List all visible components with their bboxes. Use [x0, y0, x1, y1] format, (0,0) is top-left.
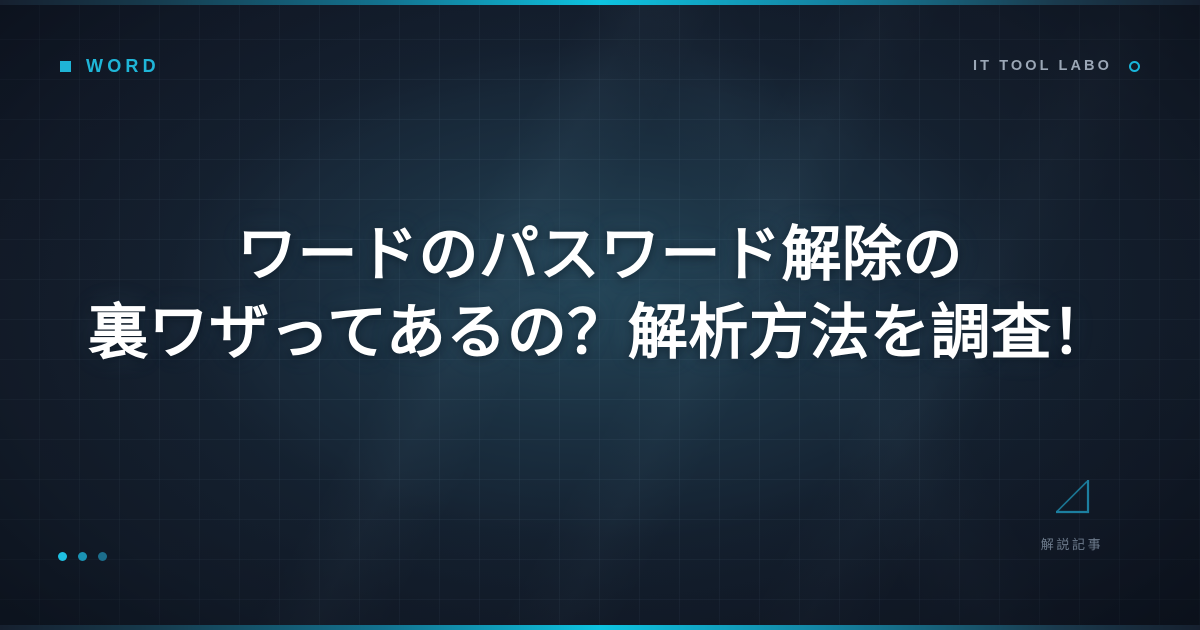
article-type-label: 解説記事: [1002, 534, 1142, 553]
brand-category: WORD: [60, 56, 160, 77]
dot-indicator-2: [78, 552, 87, 561]
bottom-accent-bar: [0, 625, 1200, 630]
right-triangle-chart-icon: [1052, 476, 1092, 516]
title-line-1: ワードのパスワード解除の: [0, 216, 1200, 294]
site-name-label: IT TOOL LABO: [973, 58, 1112, 74]
square-icon: [60, 61, 71, 72]
decorative-dots: [58, 552, 107, 561]
category-label: WORD: [86, 56, 160, 77]
page-title: ワードのパスワード解除の 裏ワザってあるの？解析方法を調査！: [0, 216, 1200, 372]
og-image-canvas: WORD IT TOOL LABO ワードのパスワード解除の 裏ワザってあるの？…: [0, 0, 1200, 630]
dot-indicator-1: [58, 552, 67, 561]
site-identity: IT TOOL LABO: [973, 58, 1140, 74]
top-accent-bar: [0, 0, 1200, 5]
header: WORD IT TOOL LABO: [0, 46, 1200, 86]
article-type-badge: 解説記事: [1002, 476, 1142, 553]
bottom-accent-gradient: [0, 625, 1200, 630]
title-line-2: 裏ワザってあるの？解析方法を調査！: [0, 294, 1200, 372]
dot-indicator-3: [98, 552, 107, 561]
circle-ring-icon: [1129, 61, 1140, 72]
top-accent-gradient: [0, 0, 1200, 5]
